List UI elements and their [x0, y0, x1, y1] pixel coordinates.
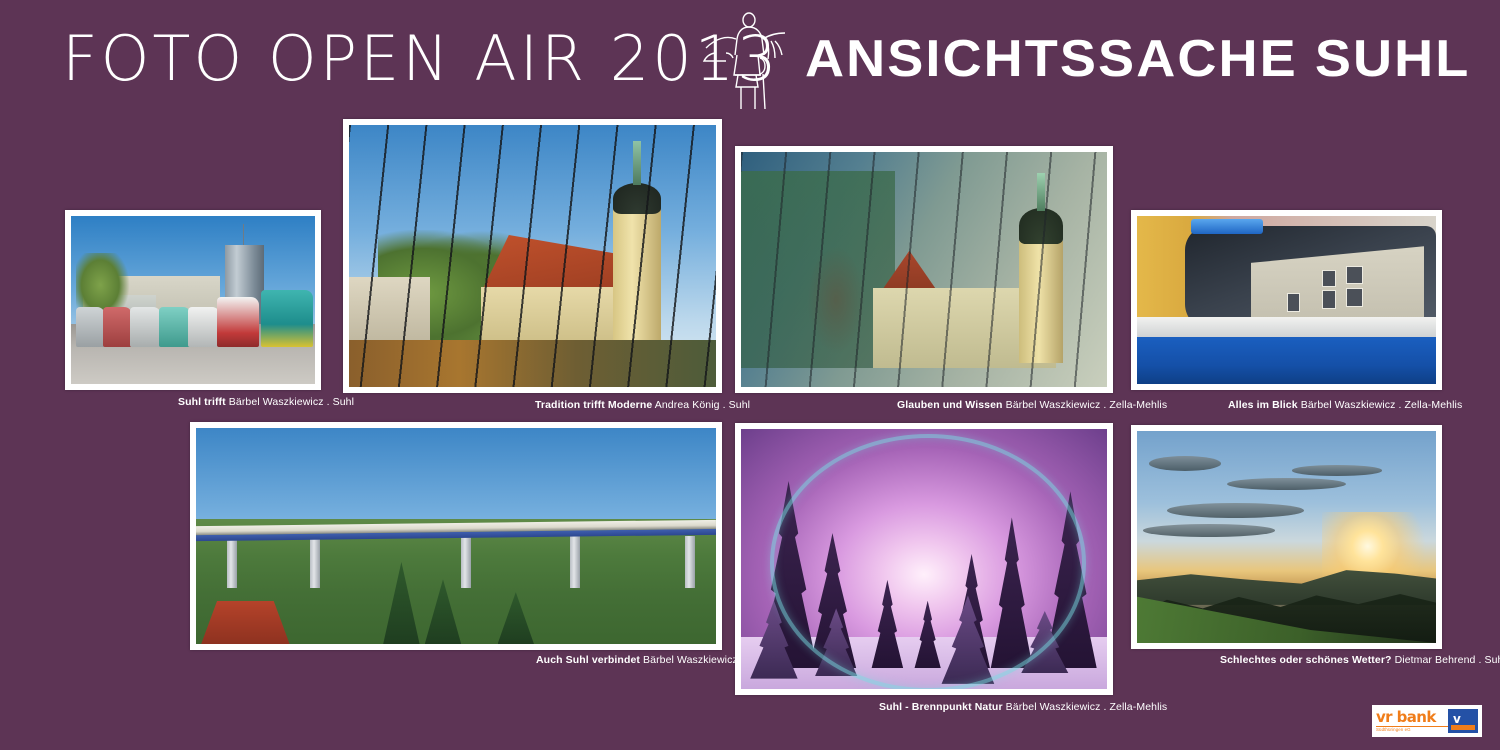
photo-caption-4: Alles im Blick Bärbel Waszkiewicz . Zell…: [1228, 400, 1462, 411]
caption-author-1: Bärbel Waszkiewicz . Suhl: [229, 396, 354, 408]
sponsor-logo[interactable]: vr bank Südthüringen eG v: [1372, 705, 1482, 737]
photo-image-4: [1137, 216, 1436, 384]
page-subtitle: ANSICHTSSACHE SUHL: [805, 33, 1470, 85]
statue-icon: [697, 8, 797, 113]
photo-caption-7: Schlechtes oder schönes Wetter? Dietmar …: [1220, 655, 1500, 666]
caption-author-6: Bärbel Waszkiewicz . Zella-Mehlis: [1006, 701, 1168, 713]
sponsor-name: vr bank: [1376, 710, 1448, 725]
photo-card-6[interactable]: [735, 423, 1113, 695]
photo-image-3: [741, 152, 1107, 387]
vr-bank-mark-icon: v: [1448, 709, 1478, 733]
photo-caption-2: Tradition trifft Moderne Andrea König . …: [535, 400, 750, 411]
caption-author-2: Andrea König . Suhl: [655, 399, 750, 411]
caption-title-4: Alles im Blick: [1228, 399, 1298, 411]
caption-author-4: Bärbel Waszkiewicz . Zella-Mehlis: [1301, 399, 1463, 411]
photo-image-2: [349, 125, 716, 387]
photo-card-5[interactable]: [190, 422, 722, 650]
photo-image-1: [71, 216, 315, 384]
page-title: FOTO OPEN AIR 2013: [62, 28, 780, 90]
sponsor-mark-letter: v: [1453, 712, 1461, 726]
caption-title-3: Glauben und Wissen: [897, 399, 1003, 411]
photo-card-7[interactable]: [1131, 425, 1442, 649]
photo-caption-6: Suhl - Brennpunkt Natur Bärbel Waszkiewi…: [879, 702, 1167, 713]
sponsor-subtitle: Südthüringen eG: [1376, 726, 1448, 732]
photo-caption-1: Suhl trifft Bärbel Waszkiewicz . Suhl: [178, 397, 354, 408]
photo-image-6: [741, 429, 1107, 689]
sponsor-wordmark: vr bank Südthüringen eG: [1376, 710, 1448, 732]
photo-card-2[interactable]: [343, 119, 722, 393]
caption-title-1: Suhl trifft: [178, 396, 226, 408]
photo-card-3[interactable]: [735, 146, 1113, 393]
caption-author-3: Bärbel Waszkiewicz . Zella-Mehlis: [1006, 399, 1168, 411]
caption-title-2: Tradition trifft Moderne: [535, 399, 652, 411]
caption-author-7: Dietmar Behrend . Suhl: [1395, 654, 1500, 666]
caption-title-6: Suhl - Brennpunkt Natur: [879, 701, 1003, 713]
photo-image-5: [196, 428, 716, 644]
photo-card-4[interactable]: [1131, 210, 1442, 390]
caption-title-5: Auch Suhl verbindet: [536, 654, 640, 666]
poster-canvas: FOTO OPEN AIR 2013 ANSICHTSSACHE SUHL: [0, 0, 1500, 750]
photo-card-1[interactable]: [65, 210, 321, 390]
caption-title-7: Schlechtes oder schönes Wetter?: [1220, 654, 1392, 666]
photo-image-7: [1137, 431, 1436, 643]
photo-caption-3: Glauben und Wissen Bärbel Waszkiewicz . …: [897, 400, 1167, 411]
